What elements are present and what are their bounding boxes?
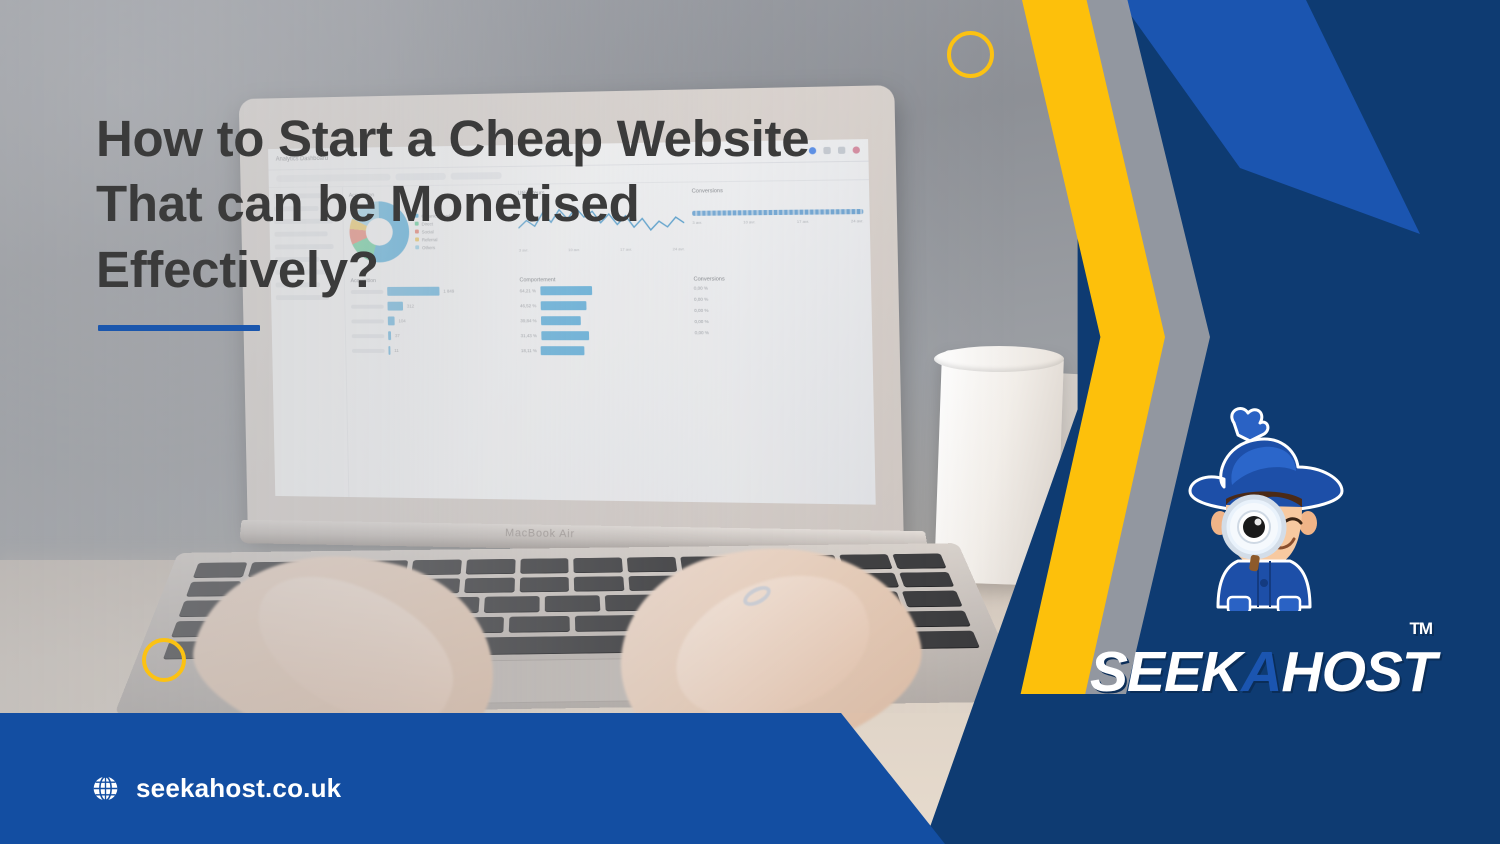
- headline-line-2: That can be Monetised: [96, 171, 1056, 236]
- table-row: 39,84 %: [520, 316, 686, 325]
- table-row: 104: [351, 316, 512, 325]
- table-row: 11: [352, 346, 513, 355]
- table-row: 0,00 %: [695, 330, 866, 335]
- headline-line-1: How to Start a Cheap Website: [96, 106, 1056, 171]
- paper-cup-rim: [934, 346, 1064, 372]
- detective-mascot-icon: [1146, 401, 1366, 611]
- brand-part-1: SEEK: [1090, 640, 1241, 704]
- headline-line-3: Effectively?: [96, 237, 1056, 302]
- footer-content[interactable]: seekahost.co.uk: [92, 773, 341, 804]
- table-row: 31,43 %: [521, 331, 687, 340]
- seekahost-logo[interactable]: SEEKAHOST TM: [1090, 405, 1430, 705]
- globe-icon: [92, 775, 119, 802]
- circle-outline-yellow-bottom-icon: [142, 638, 186, 682]
- macbook-air-label: MacBook Air: [505, 527, 575, 540]
- table-row: 0,00 %: [694, 308, 865, 313]
- website-url[interactable]: seekahost.co.uk: [136, 773, 341, 804]
- page-title: How to Start a Cheap Website That can be…: [96, 106, 1056, 302]
- table-row: 46,52 %: [520, 301, 686, 310]
- brand-wordmark: SEEKAHOST TM: [1090, 639, 1430, 705]
- headline-underline: [98, 325, 260, 331]
- brand-part-2: HOST: [1281, 640, 1435, 704]
- circle-outline-yellow-top-icon: [947, 31, 994, 78]
- table-row: 312: [351, 301, 512, 310]
- blog-banner-canvas: Analytics Dashboard: [0, 0, 1500, 844]
- table-row: 18,11 %: [521, 346, 687, 355]
- trademark-symbol: TM: [1409, 619, 1432, 639]
- table-row: 0,00 %: [694, 319, 865, 324]
- brand-accent-letter: A: [1241, 640, 1281, 704]
- table-row: 37: [352, 331, 513, 340]
